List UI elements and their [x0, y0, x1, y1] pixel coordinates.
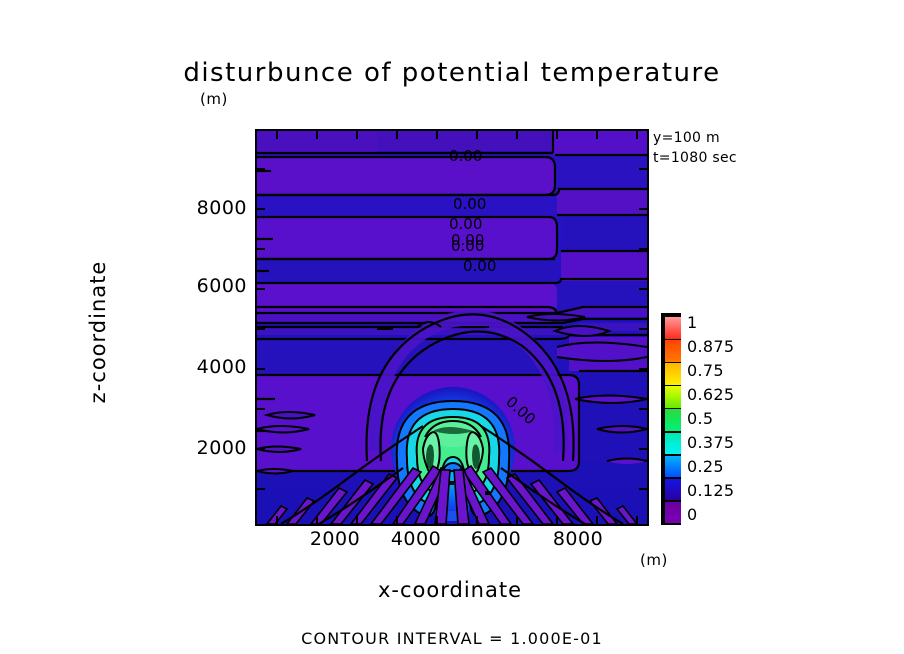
colorbar-tick-label: 0.875	[687, 337, 734, 356]
contour-label: 0.00	[453, 195, 486, 213]
y-tick-label: 6000	[177, 275, 247, 297]
annotation-time: t=1080 sec	[653, 150, 737, 166]
colorbar-band	[665, 433, 681, 455]
colorbar-tick-label: 0.625	[687, 385, 734, 404]
contour-plot-svg: 0.00 0.00 0.00 0.00 0.00 0.00 0.00	[257, 131, 647, 524]
colorbar-band	[665, 479, 681, 501]
figure-canvas: disturbunce of potential temperature (m)	[0, 0, 904, 654]
colorbar-band	[665, 317, 681, 339]
y-tick-label: 8000	[177, 197, 247, 219]
contour-plot-area: 0.00 0.00 0.00 0.00 0.00 0.00 0.00	[255, 129, 649, 526]
y-tick-label: 4000	[177, 356, 247, 378]
x-tick-label: 6000	[461, 528, 531, 550]
contour-label: 0.00	[463, 257, 496, 275]
colorbar-tick-label: 0.25	[687, 457, 724, 476]
colorbar-tick-label: 0.375	[687, 433, 734, 452]
title-units-label: (m)	[200, 90, 228, 108]
x-axis-units-label: (m)	[640, 551, 668, 569]
x-tick-label: 4000	[381, 528, 451, 550]
colorbar-band	[665, 340, 681, 362]
figure-caption: CONTOUR INTERVAL = 1.000E-01	[0, 629, 904, 648]
x-axis-title: x-coordinate	[255, 578, 645, 602]
y-tick-label: 2000	[177, 437, 247, 459]
plume-body	[391, 387, 515, 516]
colorbar-band	[665, 409, 681, 431]
page-title: disturbunce of potential temperature	[0, 58, 904, 88]
colorbar-tick-label: 0.5	[687, 409, 713, 428]
colorbar-band	[665, 456, 681, 478]
x-tick-label: 8000	[543, 528, 613, 550]
contour-label: 0.00	[449, 147, 482, 165]
colorbar-tick-label: 0.125	[687, 481, 734, 500]
colorbar	[661, 313, 681, 525]
colorbar-band	[665, 363, 681, 385]
colorbar-band	[665, 502, 681, 524]
x-tick-label: 2000	[300, 528, 370, 550]
colorbar-tick-label: 1	[687, 313, 697, 332]
colorbar-tick-label: 0	[687, 505, 697, 524]
y-axis-title: z-coordinate	[86, 222, 110, 442]
contour-label: 0.00	[451, 237, 484, 255]
colorbar-band	[665, 386, 681, 408]
annotation-slice: y=100 m	[653, 130, 720, 146]
colorbar-tick-label: 0.75	[687, 361, 724, 380]
